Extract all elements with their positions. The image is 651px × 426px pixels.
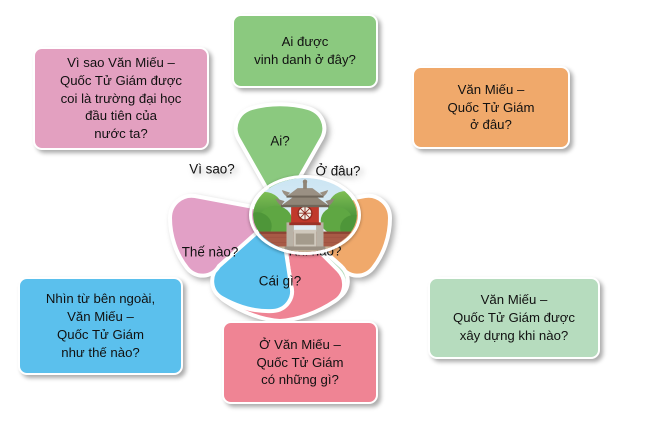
question-card-khi-nao[interactable]: Văn Miếu – Quốc Tử Giám được xây dựng kh… (428, 277, 600, 359)
question-card-ai[interactable]: Ai được vinh danh ở đây? (232, 14, 378, 88)
infographic-canvas: Vì sao Văn Miếu – Quốc Tử Giám được coi … (0, 0, 651, 426)
question-card-cai-gi[interactable]: Ở Văn Miếu – Quốc Tử Giám có những gì? (222, 321, 378, 404)
question-card-o-dau[interactable]: Văn Miếu – Quốc Tử Giám ở đâu? (412, 66, 570, 149)
khue-van-cac-gate-photo (249, 175, 361, 255)
question-card-vi-sao[interactable]: Vì sao Văn Miếu – Quốc Tử Giám được coi … (33, 47, 209, 150)
question-card-the-nao[interactable]: Nhìn từ bên ngoài, Văn Miếu – Quốc Tử Gi… (18, 277, 183, 375)
